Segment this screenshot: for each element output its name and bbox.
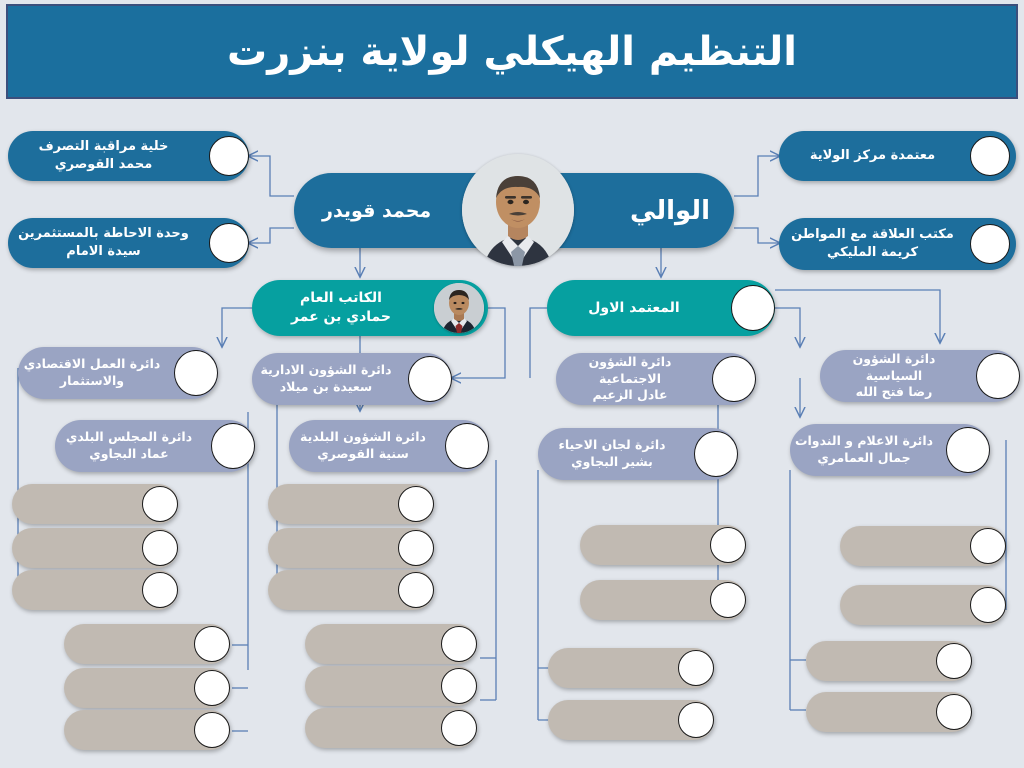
node-bullet-icon bbox=[970, 528, 1006, 564]
dept-label: دائرة العمل الاقتصادي والاستثمار bbox=[18, 356, 170, 390]
node-bullet-icon bbox=[936, 694, 972, 730]
org-chart-canvas: التنظيم الهيكلي لولاية بنزرت bbox=[0, 0, 1024, 768]
first-delegate-label: المعتمد الاول bbox=[547, 299, 725, 318]
secretary-general-label: الكاتب العام حمادي بن عمر bbox=[252, 289, 434, 327]
node-bullet-icon bbox=[678, 650, 714, 686]
unit-label: معتمدة مركز الولاية bbox=[779, 147, 970, 165]
node-bullet-icon bbox=[976, 353, 1020, 399]
dept-label: دائرة لجان الاحياء بشير البجاوي bbox=[538, 437, 690, 471]
dept-node-political-affairs[interactable]: دائرة الشؤون السياسية رضا فتح الله bbox=[820, 350, 1020, 402]
blank-node[interactable] bbox=[840, 585, 1006, 625]
node-bullet-icon bbox=[142, 572, 178, 608]
node-bullet-icon bbox=[441, 668, 477, 704]
dept-node-administrative-affairs[interactable]: دائرة الشؤون الادارية سعيدة بن ميلاد bbox=[252, 353, 452, 405]
node-bullet-icon bbox=[142, 530, 178, 566]
dept-node-media-conferences[interactable]: دائرة الاعلام و الندوات جمال العمامري bbox=[790, 424, 990, 476]
blank-node[interactable] bbox=[548, 700, 714, 740]
dept-label: دائرة الشؤون الادارية سعيدة بن ميلاد bbox=[252, 362, 404, 396]
node-bullet-icon bbox=[194, 670, 230, 706]
blank-node[interactable] bbox=[806, 692, 972, 732]
node-bullet-icon bbox=[398, 530, 434, 566]
secretary-general-node[interactable]: الكاتب العام حمادي بن عمر bbox=[252, 280, 488, 336]
blank-node[interactable] bbox=[64, 710, 230, 750]
blank-node[interactable] bbox=[64, 624, 230, 664]
node-bullet-icon bbox=[441, 710, 477, 746]
dept-label: دائرة الاعلام و الندوات جمال العمامري bbox=[790, 433, 942, 467]
secretary-general-portrait-photo bbox=[434, 283, 484, 333]
blank-node[interactable] bbox=[305, 624, 477, 664]
node-bullet-icon bbox=[441, 626, 477, 662]
unit-label: مكتب العلاقة مع المواطن كريمة المليكي bbox=[779, 226, 970, 261]
dept-label: دائرة الشؤون السياسية رضا فتح الله bbox=[820, 351, 972, 402]
node-bullet-icon bbox=[970, 224, 1010, 264]
node-bullet-icon bbox=[398, 572, 434, 608]
node-bullet-icon bbox=[731, 285, 775, 331]
dept-node-economic-affairs[interactable]: دائرة العمل الاقتصادي والاستثمار bbox=[18, 347, 218, 399]
node-bullet-icon bbox=[678, 702, 714, 738]
blank-node[interactable] bbox=[12, 528, 178, 568]
blank-node[interactable] bbox=[268, 528, 434, 568]
blank-node[interactable] bbox=[64, 668, 230, 708]
unit-label: خلية مراقبة التصرف محمد القوصري bbox=[8, 138, 203, 173]
unit-node-citizen-relations-office[interactable]: مكتب العلاقة مع المواطن كريمة المليكي bbox=[779, 218, 1016, 270]
dept-node-municipal-council[interactable]: دائرة المجلس البلدي عماد البجاوي bbox=[55, 420, 255, 472]
node-bullet-icon bbox=[142, 486, 178, 522]
node-bullet-icon bbox=[398, 486, 434, 522]
dept-label: دائرة الشؤون البلدية سنية القوصري bbox=[289, 429, 441, 463]
node-bullet-icon bbox=[209, 136, 249, 176]
first-delegate-node[interactable]: المعتمد الاول bbox=[547, 280, 775, 336]
node-bullet-icon bbox=[194, 626, 230, 662]
unit-node-governorate-center-delegate[interactable]: معتمدة مركز الولاية bbox=[779, 131, 1016, 181]
node-bullet-icon bbox=[970, 136, 1010, 176]
node-bullet-icon bbox=[408, 356, 452, 402]
node-bullet-icon bbox=[710, 527, 746, 563]
governor-name: محمد قويدر bbox=[322, 200, 431, 222]
node-bullet-icon bbox=[194, 712, 230, 748]
governor-title: الوالي bbox=[630, 196, 710, 226]
dept-node-municipal-affairs[interactable]: دائرة الشؤون البلدية سنية القوصري bbox=[289, 420, 489, 472]
dept-label: دائرة الشؤون الاجتماعية عادل الزعيم bbox=[556, 354, 708, 405]
blank-node[interactable] bbox=[12, 570, 178, 610]
blank-node[interactable] bbox=[580, 525, 746, 565]
page-title: التنظيم الهيكلي لولاية بنزرت bbox=[227, 32, 797, 72]
blank-node[interactable] bbox=[305, 708, 477, 748]
governor-portrait-photo bbox=[462, 154, 574, 266]
node-bullet-icon bbox=[211, 423, 255, 469]
node-bullet-icon bbox=[445, 423, 489, 469]
node-bullet-icon bbox=[712, 356, 756, 402]
dept-node-district-committees[interactable]: دائرة لجان الاحياء بشير البجاوي bbox=[538, 428, 738, 480]
blank-node[interactable] bbox=[580, 580, 746, 620]
blank-node[interactable] bbox=[840, 526, 1006, 566]
node-bullet-icon bbox=[936, 643, 972, 679]
blank-node[interactable] bbox=[548, 648, 714, 688]
node-bullet-icon bbox=[710, 582, 746, 618]
unit-node-investor-support[interactable]: وحدة الاحاطة بالمستثمرين سيدة الامام bbox=[8, 218, 249, 268]
blank-node[interactable] bbox=[806, 641, 972, 681]
unit-node-management-control[interactable]: خلية مراقبة التصرف محمد القوصري bbox=[8, 131, 249, 181]
node-bullet-icon bbox=[970, 587, 1006, 623]
dept-label: دائرة المجلس البلدي عماد البجاوي bbox=[55, 429, 207, 463]
chart-header-band: التنظيم الهيكلي لولاية بنزرت bbox=[6, 4, 1018, 99]
node-bullet-icon bbox=[694, 431, 738, 477]
blank-node[interactable] bbox=[305, 666, 477, 706]
node-bullet-icon bbox=[946, 427, 990, 473]
node-bullet-icon bbox=[174, 350, 218, 396]
unit-label: وحدة الاحاطة بالمستثمرين سيدة الامام bbox=[8, 225, 203, 260]
blank-node[interactable] bbox=[268, 570, 434, 610]
node-bullet-icon bbox=[209, 223, 249, 263]
blank-node[interactable] bbox=[12, 484, 178, 524]
dept-node-social-affairs[interactable]: دائرة الشؤون الاجتماعية عادل الزعيم bbox=[556, 353, 756, 405]
blank-node[interactable] bbox=[268, 484, 434, 524]
